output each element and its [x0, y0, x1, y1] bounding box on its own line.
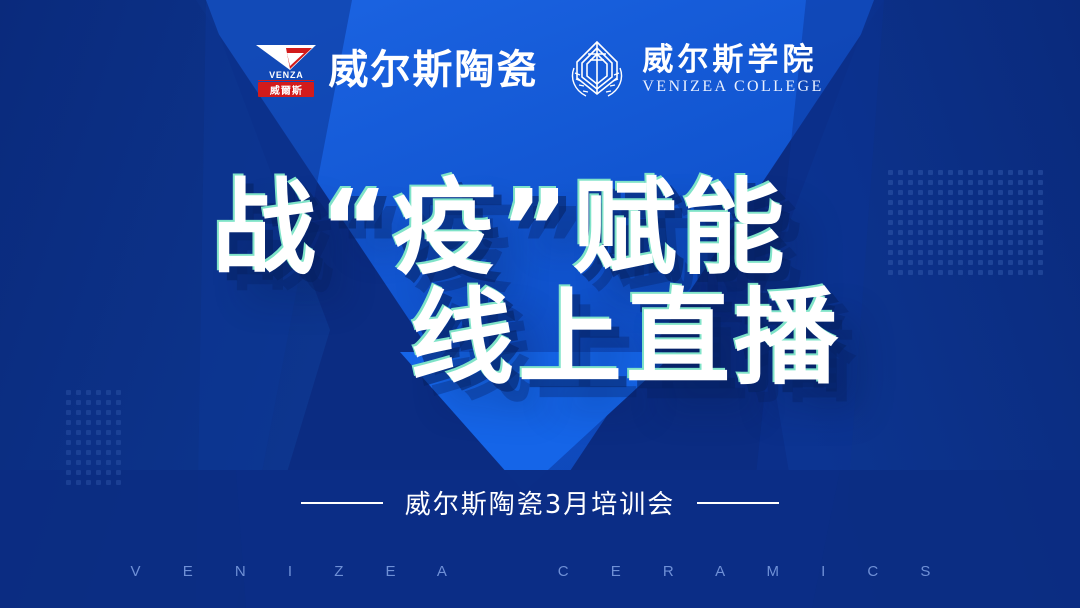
venza-swoosh-mark: VENZA 威爾斯: [256, 42, 316, 98]
college-chinese-name: 威尔斯学院: [642, 45, 823, 76]
headline-line-1: 战“疫”赋能: [212, 176, 789, 280]
swoosh-icon: [256, 44, 316, 70]
college-text-block: 威尔斯学院 VENIZEA COLLEGE: [642, 45, 823, 95]
subtitle-block: 威尔斯陶瓷3月培训会: [0, 484, 1080, 521]
headline-line-2: 线上直播: [410, 286, 842, 390]
college-english-name: VENIZEA COLLEGE: [642, 79, 823, 95]
ceramics-logo: VENZA 威爾斯 威尔斯陶瓷: [256, 42, 538, 98]
subtitle-rule-left: [301, 502, 383, 504]
footer-block: V E N I Z E A C E R A M I C S: [0, 563, 1080, 580]
ceramics-brand-name: 威尔斯陶瓷: [328, 50, 538, 90]
book-laurel-emblem-icon: [564, 38, 630, 102]
college-logo: 威尔斯学院 VENIZEA COLLEGE: [564, 38, 823, 102]
footer-wordmark: V E N I Z E A C E R A M I C S: [131, 563, 950, 580]
subtitle-rule-right: [697, 502, 779, 504]
logo-bar: VENZA 威爾斯 威尔斯陶瓷: [0, 38, 1080, 102]
venza-chinese-plate: 威爾斯: [258, 82, 314, 97]
subtitle-text: 威尔斯陶瓷3月培训会: [405, 484, 676, 521]
venza-latin-text: VENZA: [258, 69, 314, 81]
poster-canvas: VENZA 威爾斯 威尔斯陶瓷: [0, 0, 1080, 608]
